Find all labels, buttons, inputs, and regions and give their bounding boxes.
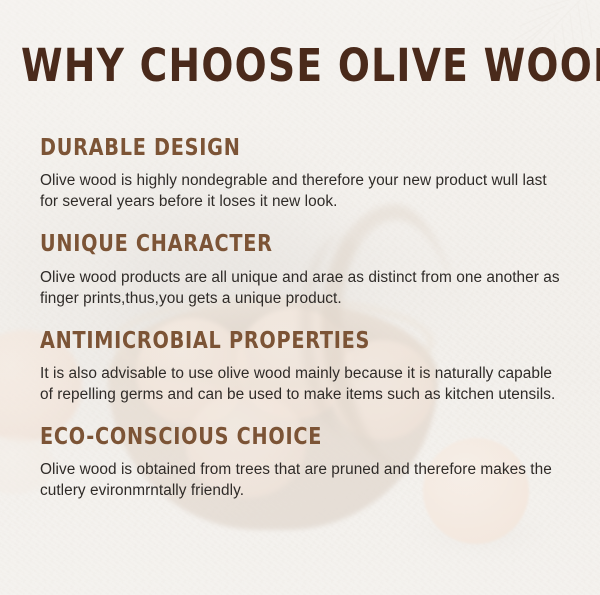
section-body: Olive wood products are all unique and a…	[40, 267, 562, 309]
benefit-section-antimicrobial-properties: ANTIMICROBIAL PROPERTIES It is also advi…	[40, 329, 564, 405]
section-heading: ANTIMICROBIAL PROPERTIES	[40, 329, 527, 354]
section-heading: UNIQUE CHARACTER	[40, 232, 527, 257]
benefit-section-durable-design: DURABLE DESIGN Olive wood is highly nond…	[40, 136, 564, 212]
section-body: Olive wood is obtained from trees that a…	[40, 459, 562, 501]
poster-content: WHY CHOOSE OLIVE WOOD? DURABLE DESIGN Ol…	[0, 0, 600, 595]
benefits-list: DURABLE DESIGN Olive wood is highly nond…	[40, 136, 564, 501]
benefit-section-eco-conscious-choice: ECO-CONSCIOUS CHOICE Olive wood is obtai…	[40, 425, 564, 501]
olive-wood-infographic-poster: WHY CHOOSE OLIVE WOOD? DURABLE DESIGN Ol…	[0, 0, 600, 595]
benefit-section-unique-character: UNIQUE CHARACTER Olive wood products are…	[40, 232, 564, 308]
page-title: WHY CHOOSE OLIVE WOOD?	[21, 43, 579, 88]
section-heading: ECO-CONSCIOUS CHOICE	[40, 425, 527, 450]
section-body: It is also advisable to use olive wood m…	[40, 363, 562, 405]
section-heading: DURABLE DESIGN	[40, 136, 527, 161]
section-body: Olive wood is highly nondegrable and the…	[40, 170, 562, 212]
